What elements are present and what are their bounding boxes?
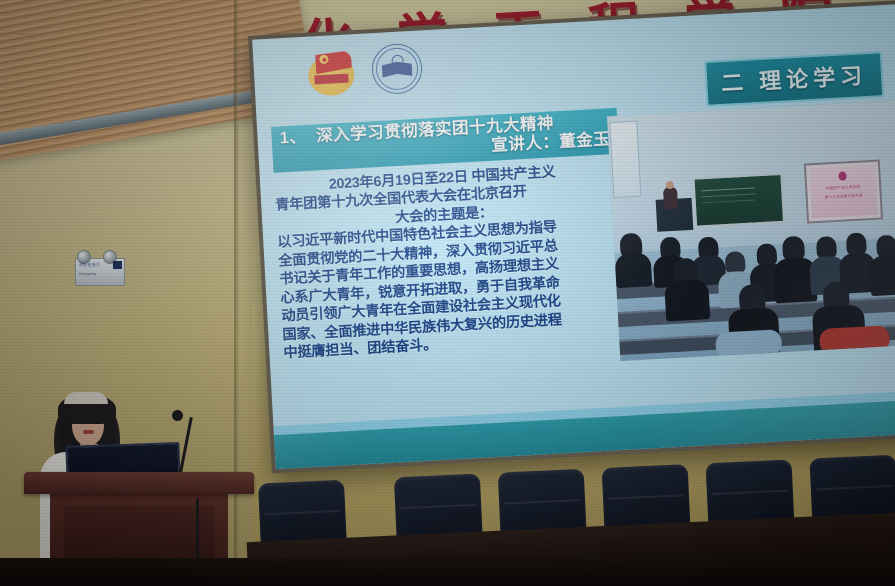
classroom-audience-photo: 中国共产主义青年团 第十九次全国代表大会: [607, 100, 895, 361]
emergency-light-tag: [113, 261, 122, 269]
university-seal-icon: [371, 43, 424, 96]
seat: [706, 459, 795, 525]
floor: [0, 558, 895, 586]
microphone-icon: [172, 410, 183, 421]
emergency-light-sublabel: Emergency: [79, 272, 96, 276]
communist-youth-league-emblem-icon: [305, 46, 360, 99]
chalkboard: [692, 173, 785, 228]
presentation-slide: 二 理论学习 1、 深入学习贯彻落实团十九大精神 宣讲人：董金玉 2023年6月…: [252, 4, 895, 469]
title-number: 1、: [279, 128, 307, 149]
inner-projection-screen: 中国共产主义青年团 第十九次全国代表大会: [804, 159, 883, 223]
headband: [64, 392, 108, 404]
photo-presenter: [663, 187, 678, 210]
emergency-light-icon: 消防应急灯 Emergency: [75, 258, 125, 286]
lecture-hall-photo: 消防应急灯 Emergency 化 学 工 程 学 院: [0, 0, 895, 586]
seat: [809, 455, 895, 521]
section-header-chip: 二 理论学习: [704, 51, 884, 107]
emergency-light-label: 消防应急灯: [79, 262, 101, 268]
projection-screen: 二 理论学习 1、 深入学习贯彻落实团十九大精神 宣讲人：董金玉 2023年6月…: [252, 4, 895, 469]
seat: [394, 474, 483, 540]
seat: [258, 480, 347, 546]
seat: [602, 464, 691, 530]
projection-screen-frame: 二 理论学习 1、 深入学习贯彻落实团十九大精神 宣讲人：董金玉 2023年6月…: [248, 0, 895, 473]
slide-logos: [305, 43, 424, 99]
seat: [498, 469, 587, 535]
slide-body-text: 2023年6月19日至22日 中国共产主义 青年团第十九次全国代表大会在北京召开…: [274, 160, 620, 363]
